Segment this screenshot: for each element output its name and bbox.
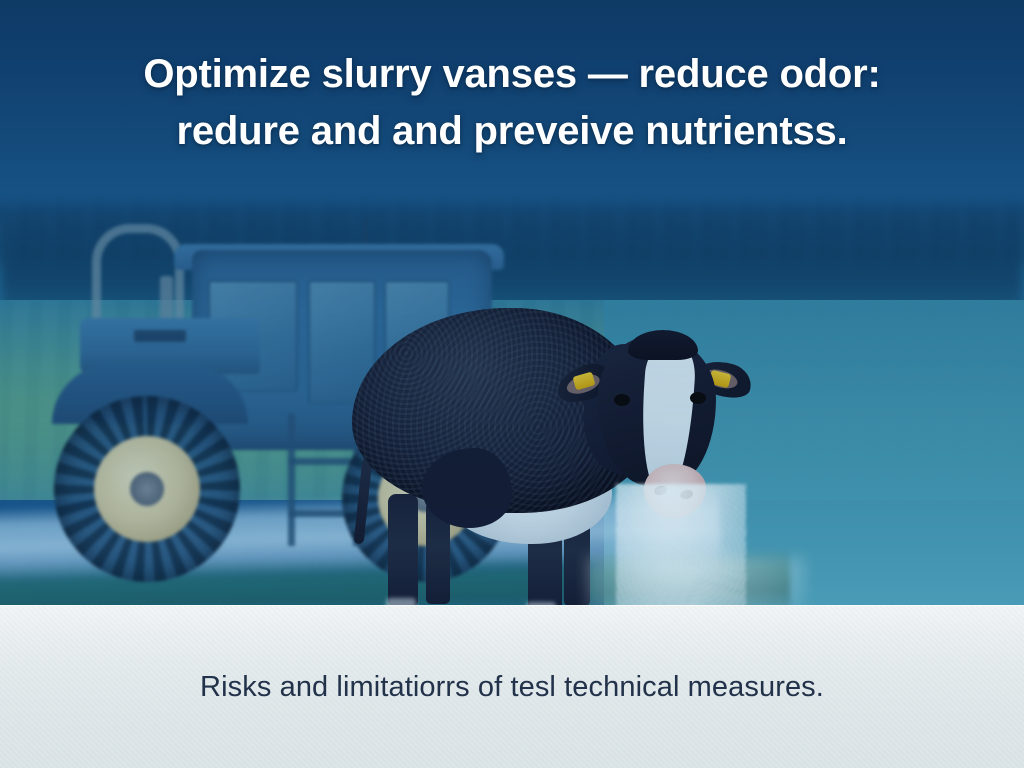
caption-band: Risks and limitatiorrs of tesl technical… — [0, 605, 1024, 768]
caption-text: Risks and limitatiorrs of tesl technical… — [160, 671, 864, 704]
page-title: Optimize slurry vanses — reduce odor: re… — [0, 46, 1024, 160]
slide-canvas: Optimize slurry vanses — reduce odor: re… — [0, 0, 1024, 768]
